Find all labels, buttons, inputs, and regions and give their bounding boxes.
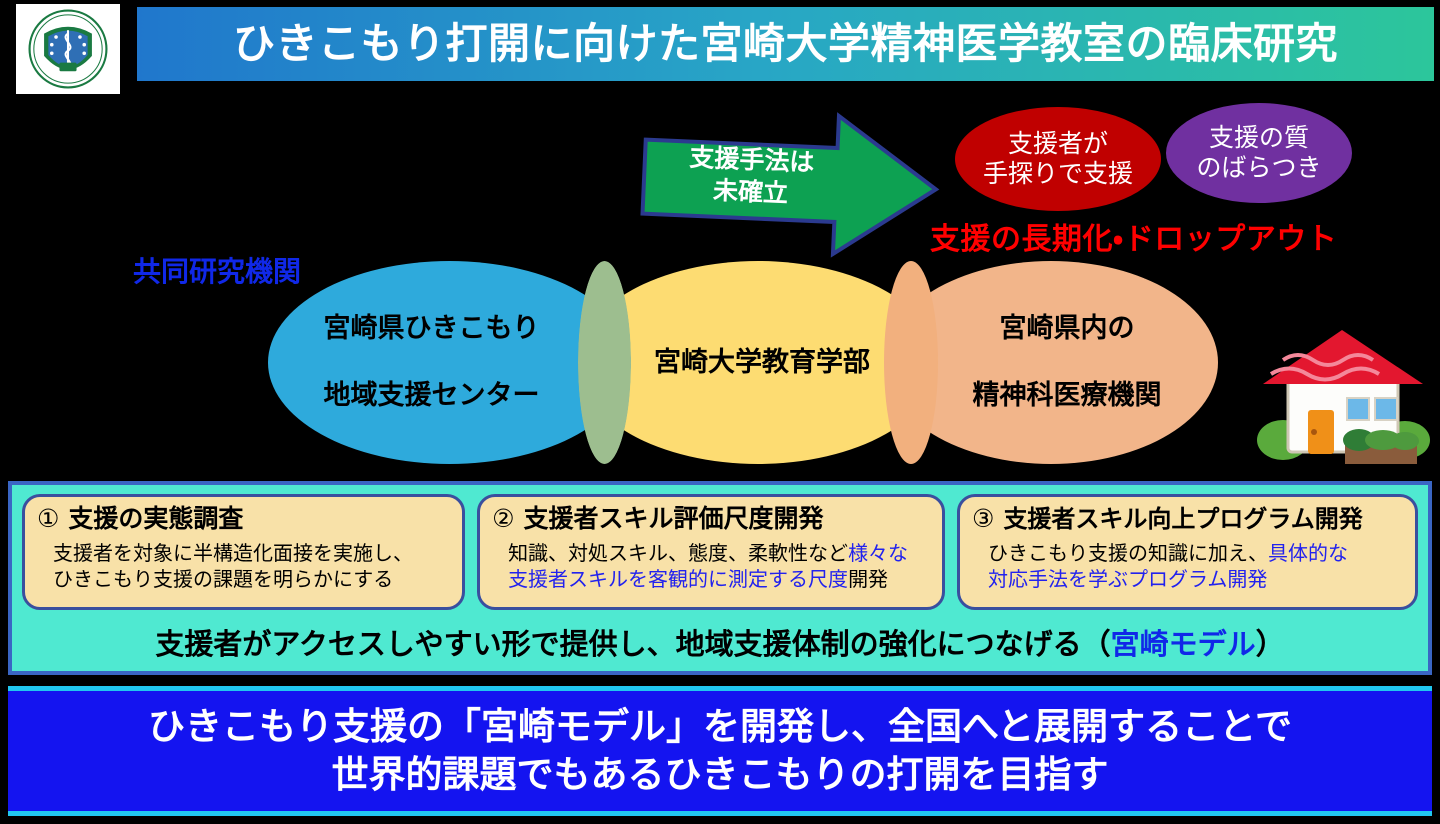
bubble-red-line2: 手探りで支援 xyxy=(983,159,1133,190)
card-1-body-line2: ひきこもり支援の課題を明らかにする xyxy=(53,567,393,591)
panel-footer-text: 支援者がアクセスしやすい形で提供し、地域支援体制の強化につなげる（宮崎モデル） xyxy=(12,621,1428,663)
card-2-body-part1: 知識、対処スキル、態度、柔軟性など xyxy=(508,541,848,565)
bubble-purple-line2: のばらつき xyxy=(1196,153,1321,184)
venn-blue-line2: 地域支援センター xyxy=(324,379,540,413)
card-1-header: ① 支援の実態調査 xyxy=(37,505,450,533)
card-1-body: 支援者を対象に半構造化面接を実施し、 ひきこもり支援の課題を明らかにする xyxy=(37,540,450,593)
card-3-header: ③ 支援者スキル向上プログラム開発 xyxy=(972,505,1403,533)
card-3-body-part1: ひきこもり支援の知識に加え、 xyxy=(988,541,1268,565)
card-2-body-part4: 開発 xyxy=(848,567,888,591)
conclusion-line-2: 世界的課題でもあるひきこもりの打開を目指す xyxy=(332,753,1109,797)
card-3-number: ③ xyxy=(972,505,994,533)
panel-footer-after: ） xyxy=(1256,627,1285,661)
card-1-number: ① xyxy=(37,505,59,533)
card-2-body-part3: 支援者スキルを客観的に測定する尺度 xyxy=(508,567,848,591)
slide-canvas: ひきこもり打開に向けた宮崎大学精神医学教室の臨床研究 支援手法は 未確立 支援者… xyxy=(0,0,1440,824)
card-2-title: 支援者スキル評価尺度開発 xyxy=(523,505,823,533)
venn-orange-line2: 精神科医療機関 xyxy=(973,379,1162,413)
project-card-2: ② 支援者スキル評価尺度開発 知識、対処スキル、態度、柔軟性など様々な 支援者ス… xyxy=(477,494,945,610)
card-2-body-part2: 様々な xyxy=(848,541,908,565)
card-3-body-part3: 対応手法を学ぶプログラム開発 xyxy=(988,567,1267,591)
panel-footer-before: 支援者がアクセスしやすい形で提供し、地域支援体制の強化につなげる（ xyxy=(155,627,1110,661)
warning-text: 支援の長期化・ドロップアウト xyxy=(930,214,1400,258)
house-icon xyxy=(1255,322,1430,470)
slide-title-bar: ひきこもり打開に向けた宮崎大学精神医学教室の臨床研究 xyxy=(137,7,1434,81)
card-2-number: ② xyxy=(492,505,514,533)
bubble-support-quality-variance: 支援の質 のばらつき xyxy=(1166,103,1352,203)
research-projects-panel: ① 支援の実態調査 支援者を対象に半構造化面接を実施し、 ひきこもり支援の課題を… xyxy=(8,481,1432,675)
university-logo xyxy=(16,4,120,94)
card-2-header: ② 支援者スキル評価尺度開発 xyxy=(492,505,930,533)
house-illustration xyxy=(1255,322,1430,470)
bubble-purple-line1: 支援の質 xyxy=(1196,123,1321,154)
card-3-body: ひきこもり支援の知識に加え、具体的な 対応手法を学ぶプログラム開発 xyxy=(972,540,1403,593)
right-arrow-icon xyxy=(637,102,943,265)
bubble-supporter-groping: 支援者が 手探りで支援 xyxy=(955,107,1161,211)
conclusion-line-1: ひきこもり支援の「宮崎モデル」を開発し、全国へと展開することで xyxy=(148,705,1292,749)
venn-ellipse-hikikomori-center: 宮崎県ひきこもり 地域支援センター xyxy=(268,261,631,464)
bubble-red-line1: 支援者が xyxy=(983,129,1133,160)
collaborating-institutions-label: 共同研究機関 xyxy=(133,250,301,290)
page-title: ひきこもり打開に向けた宮崎大学精神医学教室の臨床研究 xyxy=(233,23,1338,65)
venn-yellow-line1: 宮崎大学教育学部 xyxy=(654,346,870,380)
conclusion-banner: ひきこもり支援の「宮崎モデル」を開発し、全国へと展開することで 世界的課題でもあ… xyxy=(8,686,1432,816)
card-3-body-part2: 具体的な xyxy=(1268,541,1348,565)
card-1-title: 支援の実態調査 xyxy=(68,505,243,533)
card-3-title: 支援者スキル向上プログラム開発 xyxy=(1003,506,1362,532)
venn-orange-line1: 宮崎県内の xyxy=(973,312,1162,346)
card-1-body-line1: 支援者を対象に半構造化面接を実施し、 xyxy=(53,541,413,565)
crest-icon xyxy=(25,8,111,90)
project-card-1: ① 支援の実態調査 支援者を対象に半構造化面接を実施し、 ひきこもり支援の課題を… xyxy=(22,494,465,610)
card-2-body: 知識、対処スキル、態度、柔軟性など様々な 支援者スキルを客観的に測定する尺度開発 xyxy=(492,540,930,593)
venn-blue-line1: 宮崎県ひきこもり xyxy=(324,312,540,346)
panel-footer-highlight: 宮崎モデル xyxy=(1111,627,1256,661)
project-card-3: ③ 支援者スキル向上プログラム開発 ひきこもり支援の知識に加え、具体的な 対応手… xyxy=(957,494,1418,610)
unestablished-method-arrow: 支援手法は 未確立 xyxy=(637,102,943,265)
venn-ellipse-education-faculty: 宮崎大学教育学部 xyxy=(578,261,938,464)
project-cards-row: ① 支援の実態調査 支援者を対象に半構造化面接を実施し、 ひきこもり支援の課題を… xyxy=(12,485,1428,610)
